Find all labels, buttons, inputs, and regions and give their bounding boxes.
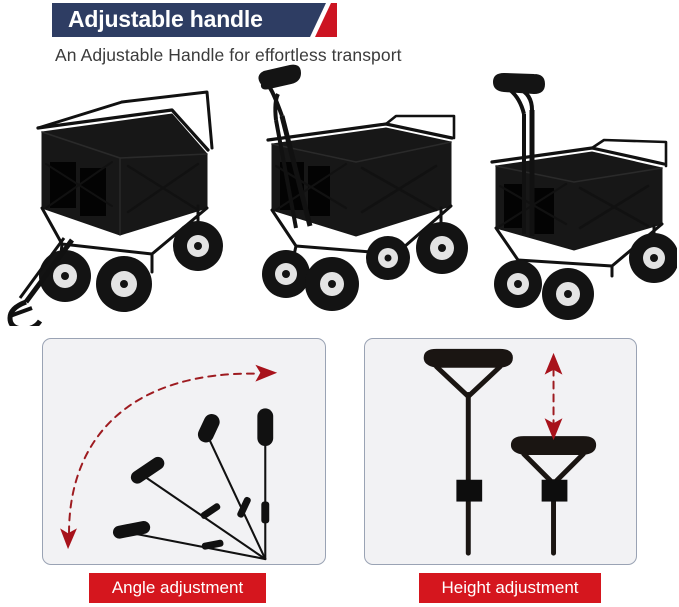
wagon-handle-upright xyxy=(462,58,677,326)
wagon-illustration-2 xyxy=(236,58,468,326)
header-banner: Adjustable handle xyxy=(52,3,337,37)
height-collar-tall xyxy=(456,480,482,502)
wagon-illustration-1 xyxy=(2,58,234,326)
handle-short xyxy=(512,437,595,553)
caption-height-adjustment: Height adjustment xyxy=(419,573,601,603)
page-title: Adjustable handle xyxy=(68,3,263,37)
product-image-row xyxy=(0,58,679,326)
wagon-handle-angled xyxy=(236,58,468,326)
angle-adjustment-diagram xyxy=(43,339,325,564)
panel-angle-adjustment xyxy=(42,338,326,565)
height-adjustment-diagram xyxy=(365,339,636,564)
wheel-group-1 xyxy=(39,221,223,312)
wheel-group-2 xyxy=(262,222,468,311)
handle-position-3 xyxy=(195,411,265,559)
handle-tall xyxy=(425,350,512,553)
height-collar-short xyxy=(542,480,568,502)
wagon-handle-lowered xyxy=(2,58,234,326)
handle-position-group xyxy=(112,408,273,559)
panel-height-adjustment xyxy=(364,338,637,565)
wagon-illustration-3 xyxy=(462,58,677,326)
angle-sweep-arrow xyxy=(60,365,277,549)
handle-position-4 xyxy=(257,408,273,559)
arrowhead-top-right xyxy=(255,365,277,382)
handle-position-1 xyxy=(112,520,265,559)
caption-angle-adjustment: Angle adjustment xyxy=(89,573,266,603)
height-range-arrow xyxy=(545,353,563,440)
